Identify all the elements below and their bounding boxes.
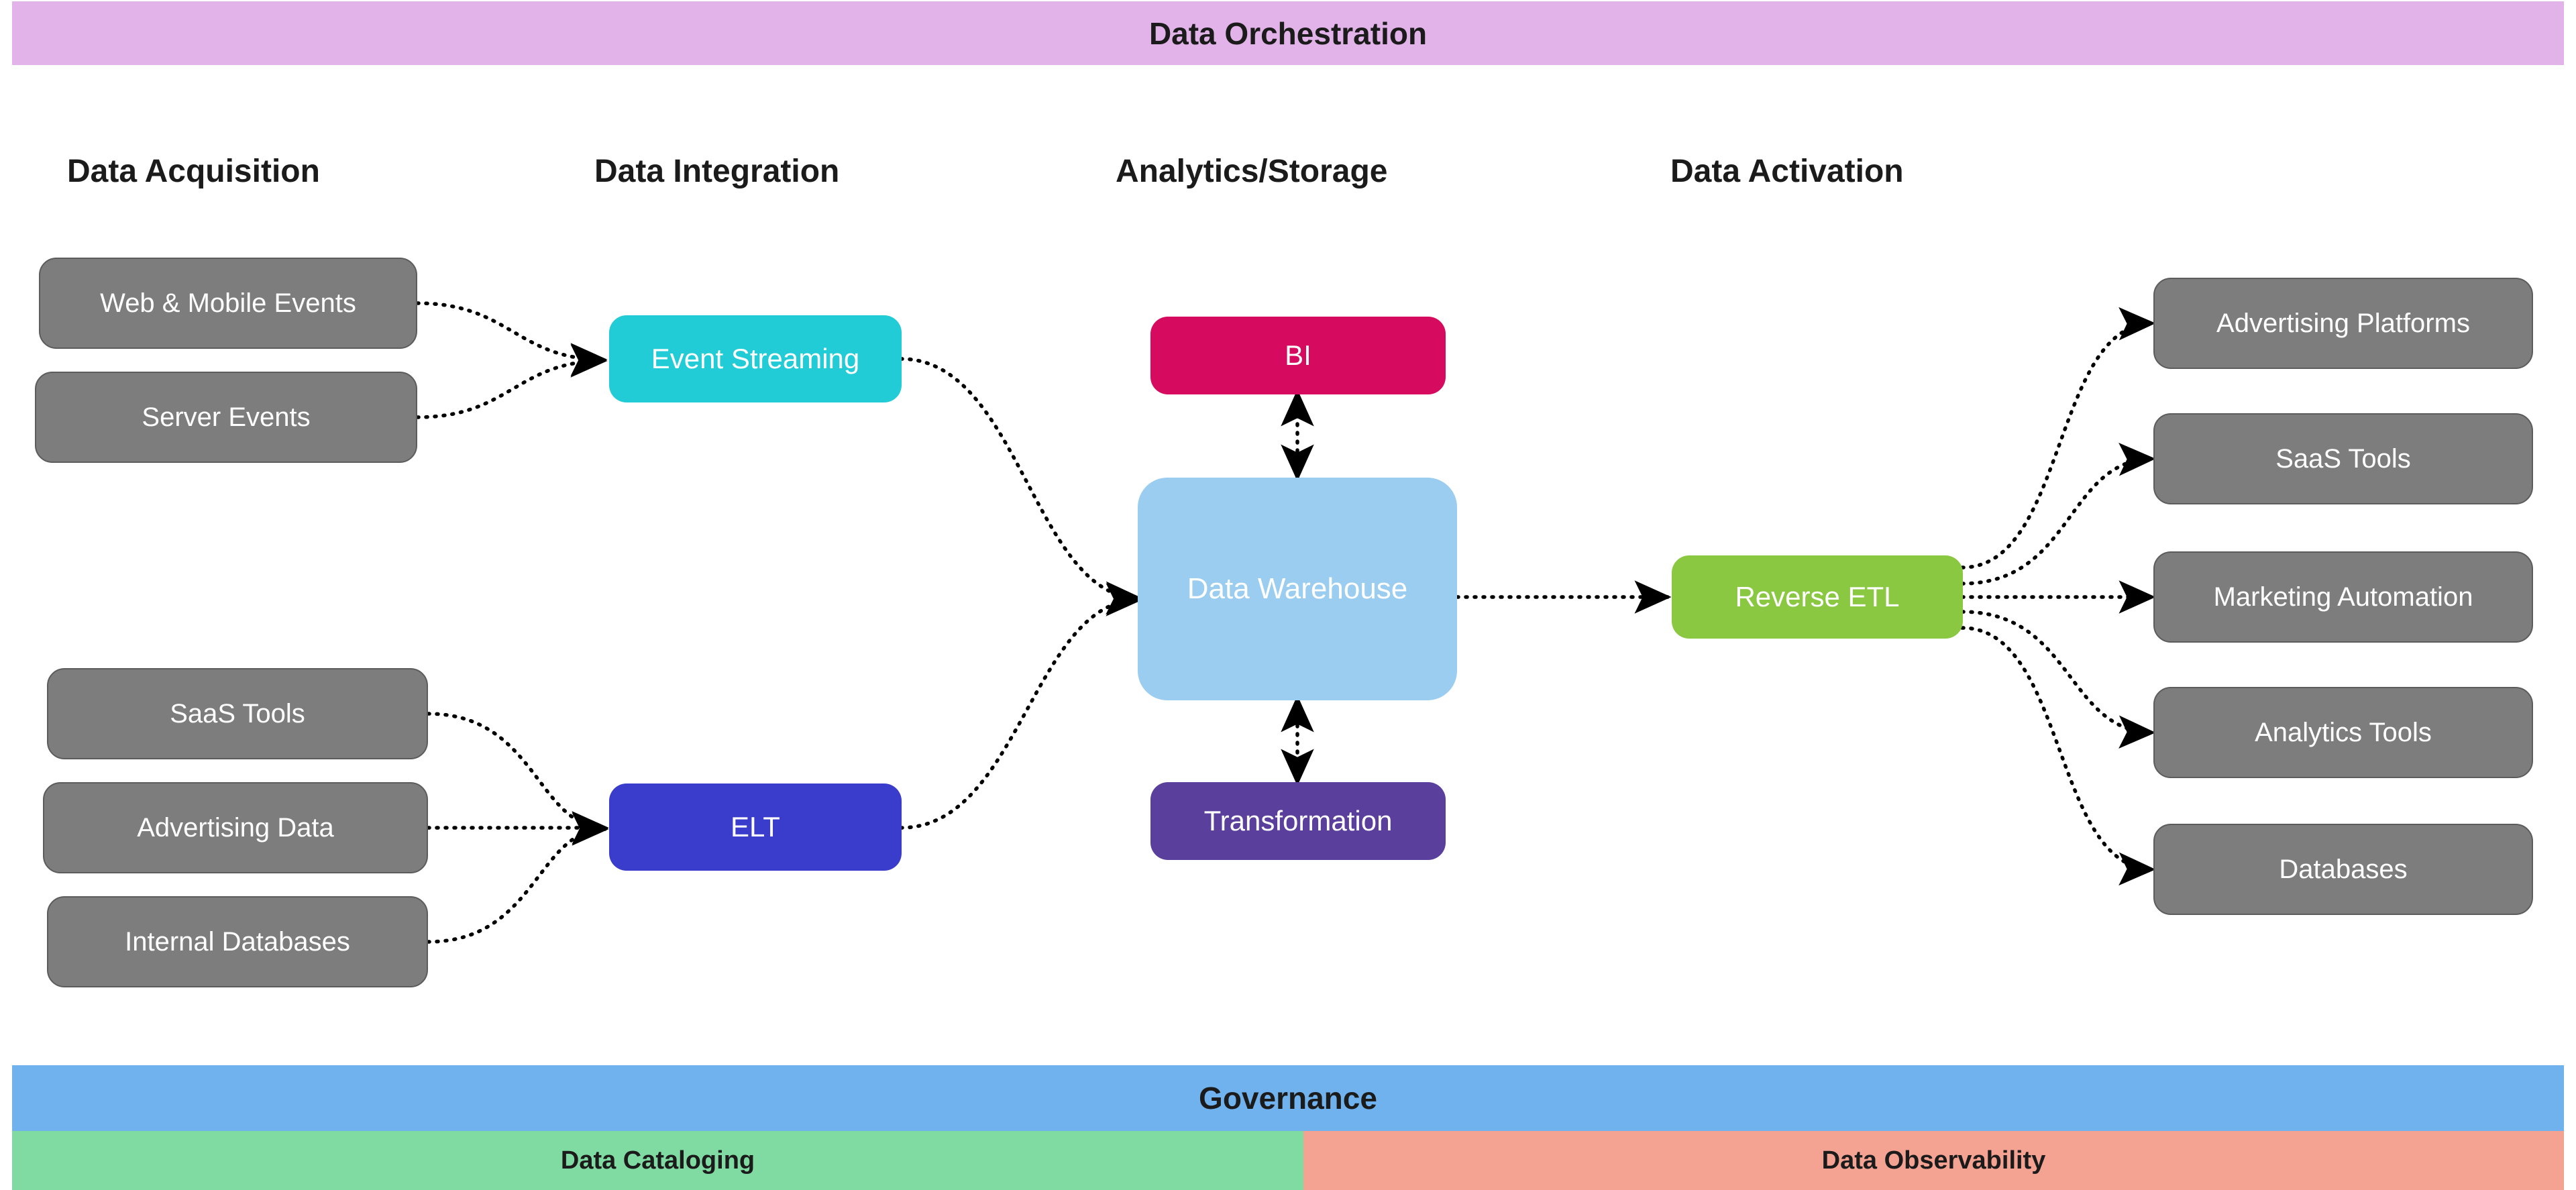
node-saas-tools-destination[interactable]: SaaS Tools [2153, 413, 2533, 504]
node-label: Advertising Data [137, 813, 333, 843]
node-label: Web & Mobile Events [100, 288, 356, 318]
data-orchestration-banner: Data Orchestration [12, 1, 2564, 65]
node-data-warehouse[interactable]: Data Warehouse [1138, 478, 1457, 700]
node-label: Event Streaming [651, 343, 860, 374]
node-label: Analytics Tools [2255, 718, 2432, 747]
column-header-data-integration: Data Integration [594, 153, 839, 190]
node-elt[interactable]: ELT [609, 783, 902, 871]
data-cataloging-label: Data Cataloging [561, 1146, 755, 1175]
data-orchestration-label: Data Orchestration [1149, 15, 1427, 52]
node-databases-destination[interactable]: Databases [2153, 824, 2533, 915]
node-label: ELT [731, 812, 780, 843]
node-bi[interactable]: BI [1150, 317, 1446, 394]
node-analytics-tools[interactable]: Analytics Tools [2153, 687, 2533, 778]
node-label: Server Events [142, 402, 310, 432]
node-marketing-automation[interactable]: Marketing Automation [2153, 551, 2533, 643]
node-internal-databases[interactable]: Internal Databases [47, 896, 428, 987]
diagram-canvas: Data Orchestration Data Acquisition Data… [0, 0, 2576, 1190]
node-label: Marketing Automation [2214, 582, 2473, 612]
node-label: Data Warehouse [1187, 573, 1408, 605]
node-server-events[interactable]: Server Events [35, 372, 417, 463]
node-label: Advertising Platforms [2216, 309, 2470, 338]
node-label: SaaS Tools [2275, 444, 2411, 474]
node-label: Internal Databases [125, 927, 350, 957]
node-saas-tools-source[interactable]: SaaS Tools [47, 668, 428, 759]
node-label: BI [1285, 340, 1311, 371]
column-header-data-activation: Data Activation [1670, 153, 1904, 190]
node-label: Reverse ETL [1735, 582, 1899, 612]
node-advertising-data[interactable]: Advertising Data [43, 782, 428, 873]
node-label: Databases [2279, 855, 2407, 884]
governance-label: Governance [1199, 1080, 1377, 1116]
node-advertising-platforms[interactable]: Advertising Platforms [2153, 278, 2533, 369]
node-label: SaaS Tools [170, 699, 305, 728]
data-observability-label: Data Observability [1822, 1146, 2046, 1175]
data-cataloging-banner: Data Cataloging [12, 1131, 1303, 1190]
column-header-data-acquisition: Data Acquisition [67, 153, 320, 190]
node-transformation[interactable]: Transformation [1150, 782, 1446, 860]
governance-banner: Governance [12, 1065, 2564, 1131]
data-observability-banner: Data Observability [1303, 1131, 2564, 1190]
node-label: Transformation [1204, 806, 1393, 836]
node-event-streaming[interactable]: Event Streaming [609, 315, 902, 402]
node-reverse-etl[interactable]: Reverse ETL [1672, 555, 1963, 639]
column-header-analytics-storage: Analytics/Storage [1116, 153, 1387, 190]
node-web-mobile-events[interactable]: Web & Mobile Events [39, 258, 417, 349]
